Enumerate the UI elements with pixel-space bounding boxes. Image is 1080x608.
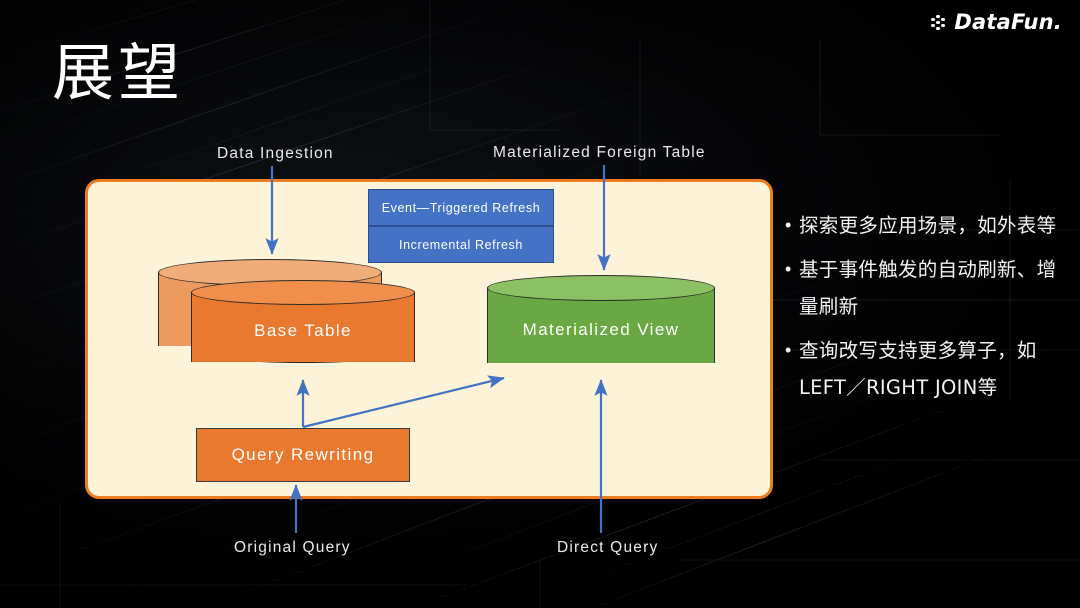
bullet-marker: • xyxy=(785,251,799,288)
label-original-query: Original Query xyxy=(234,539,351,557)
datafun-dots-icon xyxy=(930,12,950,32)
list-item: • 探索更多应用场景，如外表等 xyxy=(785,207,1065,244)
bullet-text: 基于事件触发的自动刷新、增量刷新 xyxy=(799,251,1065,325)
incremental-refresh-label: Incremental Refresh xyxy=(399,238,523,252)
label-direct-query: Direct Query xyxy=(557,539,658,557)
bullet-marker: • xyxy=(785,332,799,369)
cylinder-top xyxy=(487,275,715,301)
list-item: • 基于事件触发的自动刷新、增量刷新 xyxy=(785,251,1065,325)
bullet-marker: • xyxy=(785,207,799,244)
bullet-text: 查询改写支持更多算子，如LEFT／RIGHT JOIN等 xyxy=(799,332,1065,406)
slide-canvas: DataFun. 展望 Data Ingestion Materialized … xyxy=(0,0,1080,608)
datafun-logo: DataFun. xyxy=(930,10,1062,34)
event-triggered-refresh-label: Event—Triggered Refresh xyxy=(382,201,541,215)
query-rewriting-box[interactable]: Query Rewriting xyxy=(196,428,410,482)
list-item: • 查询改写支持更多算子，如LEFT／RIGHT JOIN等 xyxy=(785,332,1065,406)
base-table-label: Base Table xyxy=(191,321,415,341)
page-title: 展望 xyxy=(52,42,184,104)
brand-name: DataFun. xyxy=(954,10,1062,34)
materialized-view-label: Materialized View xyxy=(487,320,715,340)
cylinder-top xyxy=(191,280,415,305)
bullet-text: 探索更多应用场景，如外表等 xyxy=(799,207,1056,244)
label-materialized-foreign-table: Materialized Foreign Table xyxy=(493,144,706,162)
base-table-cylinder[interactable]: Base Table xyxy=(191,280,415,374)
incremental-refresh-box[interactable]: Incremental Refresh xyxy=(368,226,554,263)
label-data-ingestion: Data Ingestion xyxy=(217,145,334,163)
bullet-list: • 探索更多应用场景，如外表等 • 基于事件触发的自动刷新、增量刷新 • 查询改… xyxy=(785,207,1065,413)
materialized-view-cylinder[interactable]: Materialized View xyxy=(487,275,715,375)
query-rewriting-label: Query Rewriting xyxy=(232,445,375,465)
event-triggered-refresh-box[interactable]: Event—Triggered Refresh xyxy=(368,189,554,226)
